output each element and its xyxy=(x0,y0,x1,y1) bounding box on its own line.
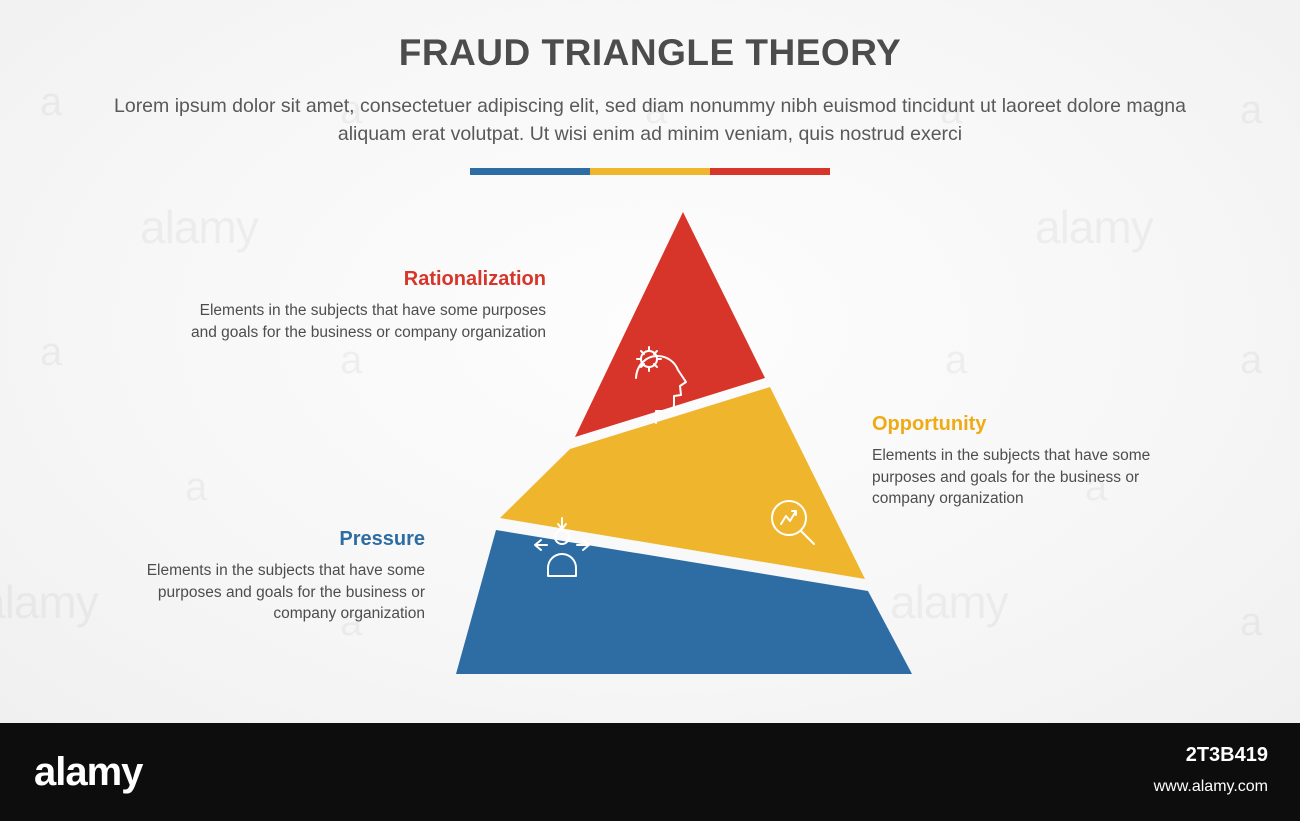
divider-segment-blue xyxy=(470,168,590,175)
segment-opportunity: Opportunity Elements in the subjects tha… xyxy=(872,413,1182,510)
segment-title-pressure: Pressure xyxy=(115,528,425,551)
segment-title-rationalization: Rationalization xyxy=(180,268,546,291)
segment-rationalization: Rationalization Elements in the subjects… xyxy=(180,268,546,343)
segment-description-pressure: Elements in the subjects that have some … xyxy=(115,560,425,625)
divider xyxy=(470,168,830,175)
watermark-letter: a xyxy=(1240,600,1262,645)
page-subtitle: Lorem ipsum dolor sit amet, consectetuer… xyxy=(95,92,1205,148)
divider-segment-yellow xyxy=(590,168,710,175)
watermark-letter: a xyxy=(1240,88,1262,133)
diagram-canvas: alamy alamy alamy alamy a a a a a a a a … xyxy=(0,0,1300,723)
page-title: FRAUD TRIANGLE THEORY xyxy=(0,32,1300,74)
segment-description-opportunity: Elements in the subjects that have some … xyxy=(872,445,1182,510)
footer-bar xyxy=(0,723,1300,821)
watermark-letter: a xyxy=(945,338,967,383)
watermark-text: alamy xyxy=(140,200,258,254)
segment-description-rationalization: Elements in the subjects that have some … xyxy=(180,300,546,343)
watermark-text: alamy xyxy=(0,575,98,629)
watermark-letter: a xyxy=(40,330,62,375)
watermark-letter: a xyxy=(340,338,362,383)
divider-segment-red xyxy=(710,168,830,175)
infographic-page: alamy alamy alamy alamy a a a a a a a a … xyxy=(0,0,1300,821)
segment-title-opportunity: Opportunity xyxy=(872,413,1182,436)
watermark-letter: a xyxy=(40,80,62,125)
watermark-text: alamy xyxy=(1035,200,1153,254)
alamy-url: www.alamy.com xyxy=(0,778,1268,796)
watermark-letter: a xyxy=(1240,338,1262,383)
image-id: 2T3B419 xyxy=(0,744,1268,767)
segment-pressure: Pressure Elements in the subjects that h… xyxy=(115,528,425,625)
watermark-letter: a xyxy=(185,465,207,510)
